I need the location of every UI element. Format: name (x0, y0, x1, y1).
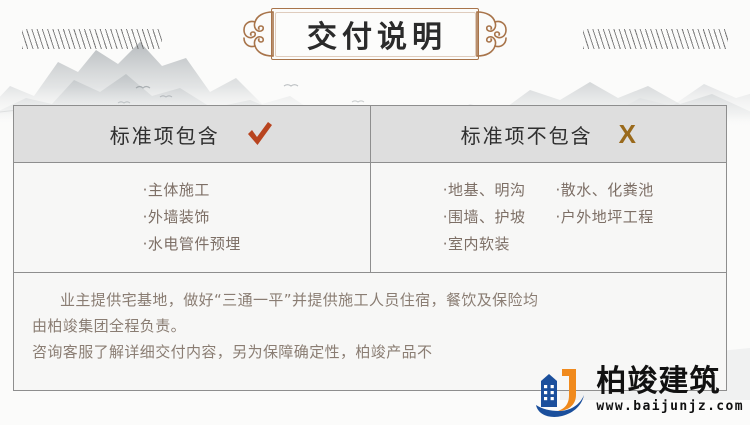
hatch-rule-left-icon (22, 29, 162, 49)
note-line: 由柏竣集团全程负责。 (32, 313, 708, 339)
excluded-header-label: 标准项不包含 (461, 120, 593, 149)
page-title: 交付说明 (303, 12, 447, 56)
cloud-scroll-ornament-left-icon (241, 6, 275, 62)
note-line: 业主提供宅基地，做好“三通一平”并提供施工人员住宿，餐饮及保险均 (32, 287, 708, 313)
table-body-row: ·主体施工 ·外墙装饰 ·水电管件预埋 ·地基、明沟 ·围墙、护坡 ·室内软装 … (14, 162, 726, 272)
company-website: www.baijunjz.com (596, 397, 744, 417)
note-line: 咨询客服了解详细交付内容，另为保障确定性，柏竣产品不 (32, 339, 708, 365)
excluded-items-cell: ·地基、明沟 ·围墙、护坡 ·室内软装 ·散水、化粪池 ·户外地坪工程 (371, 163, 727, 272)
check-mark-icon (246, 121, 274, 147)
company-watermark-logo: 柏竣建筑 www.baijunjz.com (532, 365, 744, 419)
list-item: ·围墙、护坡 (443, 206, 526, 227)
cloud-scroll-ornament-right-icon (475, 6, 509, 62)
x-mark-icon: X (619, 121, 636, 147)
excluded-items-list: ·地基、明沟 ·围墙、护坡 ·室内软装 ·散水、化粪池 ·户外地坪工程 (371, 163, 727, 268)
included-header-label: 标准项包含 (110, 120, 220, 149)
list-item: ·水电管件预埋 (143, 233, 241, 254)
baijun-building-logo-icon (532, 365, 590, 419)
included-items-column-1: ·主体施工 ·外墙装饰 ·水电管件预埋 (143, 179, 241, 254)
excluded-items-column-2: ·散水、化粪池 ·户外地坪工程 (556, 179, 654, 254)
list-item: ·外墙装饰 (143, 206, 241, 227)
company-name: 柏竣建筑 (596, 367, 744, 397)
title-band: 交付说明 (0, 0, 750, 70)
table-header-included: 标准项包含 (14, 106, 371, 162)
list-item: ·散水、化粪池 (556, 179, 654, 200)
title-plate: 交付说明 (241, 4, 509, 64)
table-header-row: 标准项包含 标准项不包含 X (14, 106, 726, 162)
list-item: ·主体施工 (143, 179, 241, 200)
included-items-list: ·主体施工 ·外墙装饰 ·水电管件预埋 (14, 163, 370, 268)
delivery-instructions-page: 交付说明 标准项包含 标准项不包含 X ·主体施工 ·外墙装饰 (0, 0, 750, 425)
included-items-cell: ·主体施工 ·外墙装饰 ·水电管件预埋 (14, 163, 371, 272)
logo-text-block: 柏竣建筑 www.baijunjz.com (596, 367, 744, 417)
excluded-items-column-1: ·地基、明沟 ·围墙、护坡 ·室内软装 (443, 179, 526, 254)
list-item: ·地基、明沟 (443, 179, 526, 200)
delivery-scope-table: 标准项包含 标准项不包含 X ·主体施工 ·外墙装饰 ·水电管件预埋 (13, 105, 727, 391)
list-item: ·户外地坪工程 (556, 206, 654, 227)
table-header-excluded: 标准项不包含 X (371, 106, 727, 162)
hatch-rule-right-icon (583, 29, 728, 49)
list-item: ·室内软装 (443, 233, 526, 254)
